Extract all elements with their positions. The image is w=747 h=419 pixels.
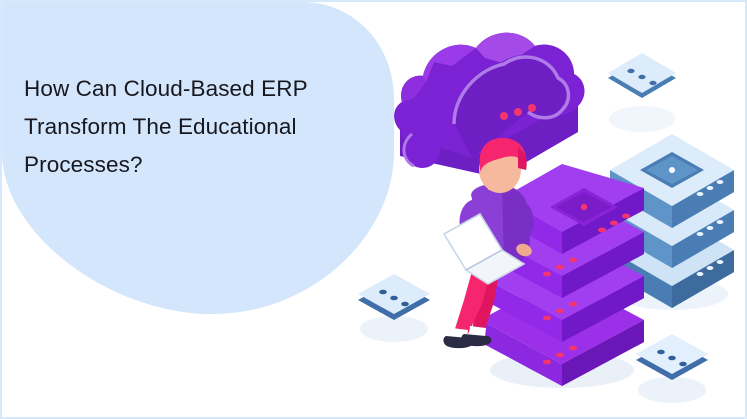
purple-server-dot xyxy=(543,360,551,365)
purple-server-dot xyxy=(622,214,630,219)
purple-server-dot xyxy=(569,258,577,263)
purple-server-dot xyxy=(556,265,564,270)
banner: How Can Cloud-Based ERP Transform The Ed… xyxy=(0,0,747,419)
purple-server-dot xyxy=(569,346,577,351)
purple-server-dot xyxy=(556,309,564,314)
purple-server-dot xyxy=(610,221,618,226)
blue-server-dot xyxy=(697,272,704,276)
purple-server-dot xyxy=(543,272,551,277)
tile-dot xyxy=(390,296,398,301)
purple-server-dot xyxy=(556,353,564,358)
cloud-dot xyxy=(514,108,522,116)
tile-dot xyxy=(627,69,634,73)
blue-server-dot xyxy=(717,220,724,224)
cloud-dot xyxy=(528,104,536,112)
tile-dot xyxy=(379,290,387,295)
purple-server-chip-dot xyxy=(581,204,587,210)
blue-server-dot xyxy=(697,192,704,196)
tile-dot xyxy=(638,75,645,79)
cloud-dot xyxy=(500,112,508,120)
blue-server-dot xyxy=(697,232,704,236)
purple-server-dot xyxy=(543,316,551,321)
blue-server-dot xyxy=(717,260,724,264)
blue-server-dot xyxy=(707,226,714,230)
tile-shadow xyxy=(609,106,675,132)
purple-server-dot xyxy=(598,228,606,233)
tile-dot xyxy=(649,81,656,85)
tile-dot xyxy=(401,302,409,307)
blue-server-dot xyxy=(707,266,714,270)
purple-server-dot xyxy=(569,302,577,307)
banner-artwork xyxy=(2,2,747,419)
blue-server-chip-dot xyxy=(669,167,675,173)
tile-shadow xyxy=(638,377,706,403)
tile-dot xyxy=(657,350,665,355)
tile-dot xyxy=(668,356,676,361)
blue-server-dot xyxy=(707,186,714,190)
tile-dot xyxy=(679,362,687,367)
blue-server-dot xyxy=(717,180,724,184)
